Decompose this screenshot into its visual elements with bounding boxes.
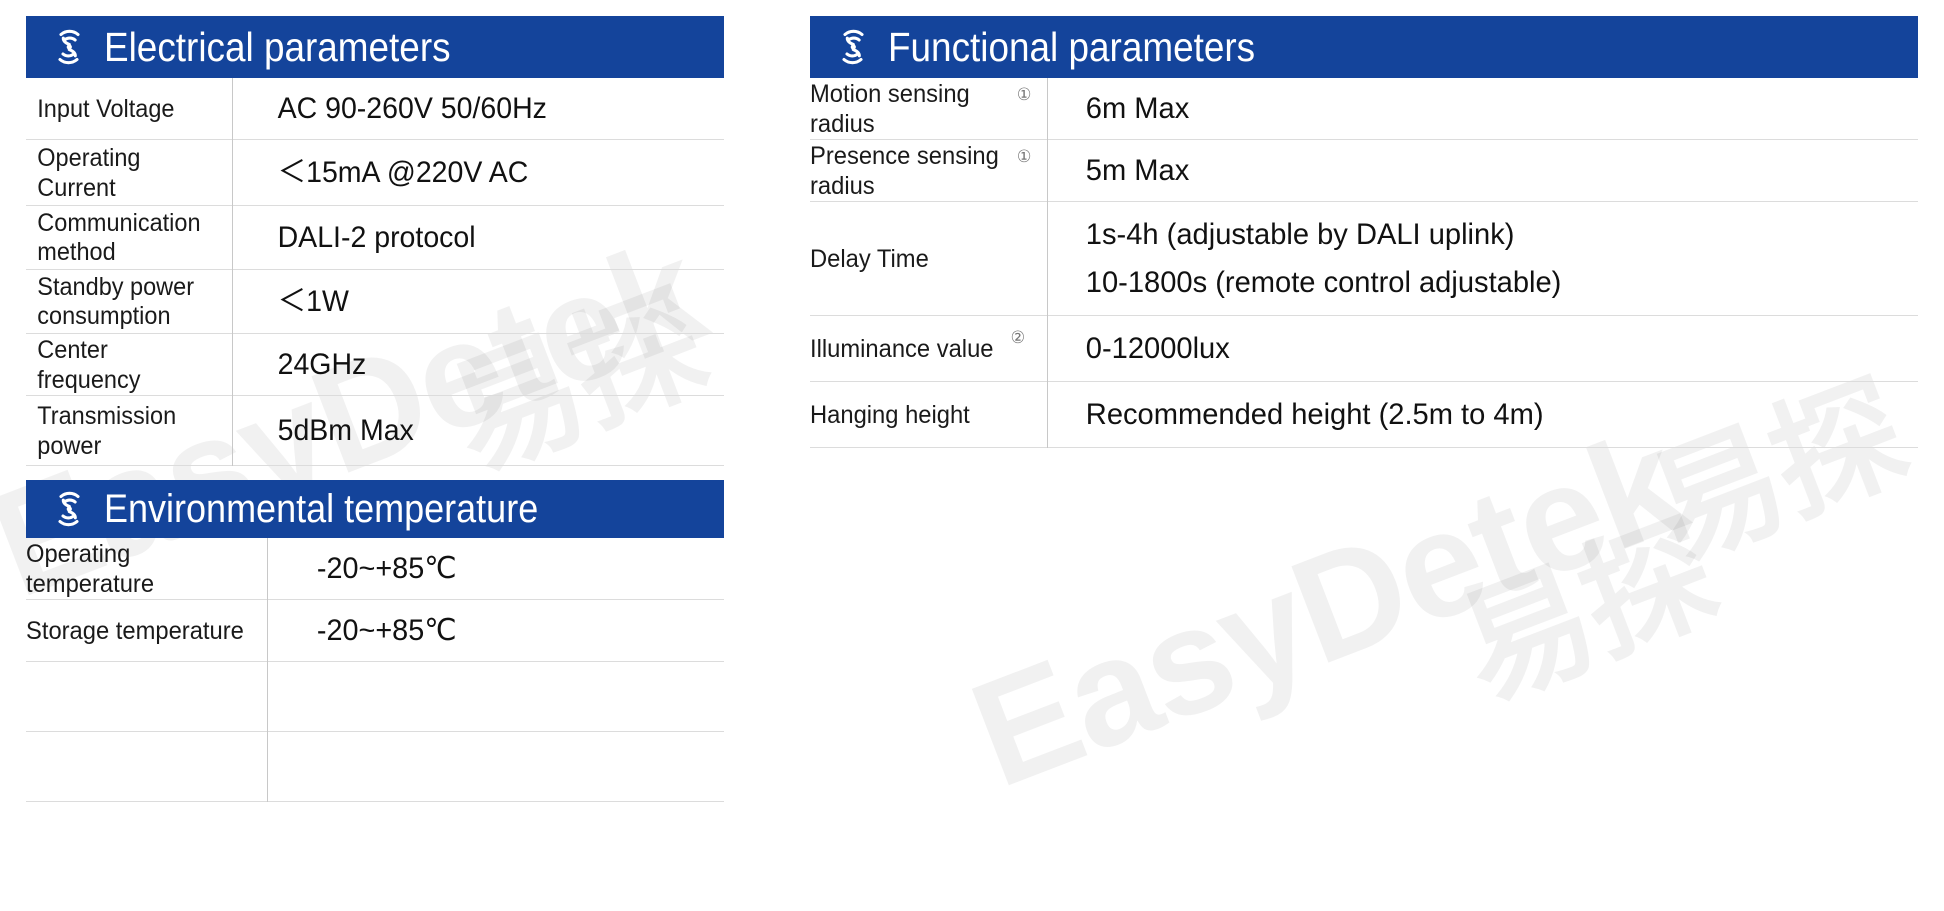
row-label: Storage temperature [26, 616, 255, 646]
row-value: ＜1W [232, 284, 699, 320]
row-label: Presence sensing radius① [810, 141, 1035, 201]
column-divider [267, 538, 268, 802]
table-row: Input Voltage AC 90-260V 50/60Hz [26, 78, 724, 140]
table-row: Standby power consumption ＜1W [26, 270, 724, 334]
row-label-text: Presence sensing radius [810, 141, 1015, 201]
row-value-line: DALI-2 protocol [278, 220, 700, 256]
row-value-line: 1s-4h (adjustable by DALI uplink) [1086, 217, 1892, 253]
functional-parameters-panel: Functional parameters Motion sensing rad… [810, 16, 1918, 448]
row-label-text: Hanging height [810, 400, 970, 430]
row-value-line: 5dBm Max [278, 413, 700, 449]
row-label-text: Motion sensing radius [810, 79, 1015, 139]
row-value-line: 24GHz [278, 347, 700, 383]
footnote-marker: ① [1017, 148, 1031, 165]
row-value: 5m Max [1047, 147, 1892, 195]
row-value: 24GHz [232, 347, 699, 383]
row-value: 6m Max [1047, 85, 1892, 133]
row-value: 5dBm Max [232, 413, 699, 449]
row-value-line: ＜15mA @220V AC [278, 155, 700, 191]
table-row: Delay Time 1s-4h (adjustable by DALI upl… [810, 202, 1918, 316]
row-label: Hanging height [810, 400, 1035, 430]
table-row [26, 732, 724, 802]
row-label: Illuminance value② [810, 334, 1035, 364]
row-label: Transmission power [26, 401, 220, 461]
table-row: Transmission power 5dBm Max [26, 396, 724, 466]
radar-wave-icon [48, 486, 90, 532]
row-value-line: ＜1W [278, 284, 700, 320]
environmental-temperature-title: Environmental temperature [104, 487, 538, 531]
row-value: 1s-4h (adjustable by DALI uplink) 10-180… [1047, 211, 1892, 307]
row-label: Operating Current [26, 143, 220, 203]
column-divider [232, 78, 233, 466]
environmental-temperature-table: Operating temperature -20~+85℃ Storage t… [26, 538, 724, 802]
row-label: Motion sensing radius① [810, 79, 1035, 139]
radar-wave-icon [48, 24, 90, 70]
row-value-line: -20~+85℃ [317, 613, 706, 649]
row-value: ＜15mA @220V AC [232, 155, 699, 191]
functional-parameters-title: Functional parameters [888, 25, 1255, 69]
row-value-line: 6m Max [1086, 91, 1892, 127]
table-row: Storage temperature -20~+85℃ [26, 600, 724, 662]
row-label: Communication method [26, 209, 220, 267]
functional-parameters-header: Functional parameters [810, 16, 1918, 78]
table-row: Hanging height Recommended height (2.5m … [810, 382, 1918, 448]
electrical-parameters-table: Input Voltage AC 90-260V 50/60Hz Operati… [26, 78, 724, 466]
row-value-line: -20~+85℃ [317, 551, 706, 587]
spec-sheet-page: EasyDetek 易探 EasyDetek 易探 易探 Electrical … [0, 0, 1944, 911]
functional-parameters-table: Motion sensing radius① 6m Max Presence s… [810, 78, 1918, 448]
table-row: Operating Current ＜15mA @220V AC [26, 140, 724, 206]
row-label: Operating temperature [26, 539, 255, 599]
table-row: Operating temperature -20~+85℃ [26, 538, 724, 600]
row-value-line: 0-12000lux [1086, 331, 1892, 367]
footnote-marker: ② [1011, 329, 1025, 346]
row-label: Delay Time [810, 244, 1035, 274]
electrical-parameters-panel: Electrical parameters Input Voltage AC 9… [26, 16, 724, 466]
column-divider [1047, 78, 1048, 448]
row-label: Input Voltage [26, 94, 220, 124]
watermark-text: EasyDetek [950, 394, 1704, 821]
watermark-text: 易探 [1430, 468, 1736, 735]
table-row: Center frequency 24GHz [26, 334, 724, 396]
environmental-temperature-header: Environmental temperature [26, 480, 724, 538]
row-value: 0-12000lux [1047, 325, 1892, 373]
table-row [26, 662, 724, 732]
electrical-parameters-header: Electrical parameters [26, 16, 724, 78]
row-value-line: 10-1800s (remote control adjustable) [1086, 265, 1892, 301]
row-value-line: 5m Max [1086, 153, 1892, 189]
row-value: -20~+85℃ [267, 551, 706, 587]
table-row: Motion sensing radius① 6m Max [810, 78, 1918, 140]
table-row: Presence sensing radius① 5m Max [810, 140, 1918, 202]
radar-wave-icon [832, 24, 874, 70]
environmental-temperature-panel: Environmental temperature Operating temp… [26, 480, 724, 802]
row-value-line: Recommended height (2.5m to 4m) [1086, 397, 1892, 433]
row-value: -20~+85℃ [267, 613, 706, 649]
row-value: Recommended height (2.5m to 4m) [1047, 391, 1892, 439]
row-label: Center frequency [26, 335, 220, 395]
row-label-text: Illuminance value [810, 334, 994, 364]
row-label: Standby power consumption [26, 273, 220, 331]
row-value: AC 90-260V 50/60Hz [232, 91, 699, 127]
table-row: Illuminance value② 0-12000lux [810, 316, 1918, 382]
footnote-marker: ① [1017, 86, 1031, 103]
table-row: Communication method DALI-2 protocol [26, 206, 724, 270]
row-value: DALI-2 protocol [232, 220, 699, 256]
electrical-parameters-title: Electrical parameters [104, 25, 451, 69]
row-label-text: Delay Time [810, 244, 929, 274]
row-value-line: AC 90-260V 50/60Hz [278, 91, 700, 127]
